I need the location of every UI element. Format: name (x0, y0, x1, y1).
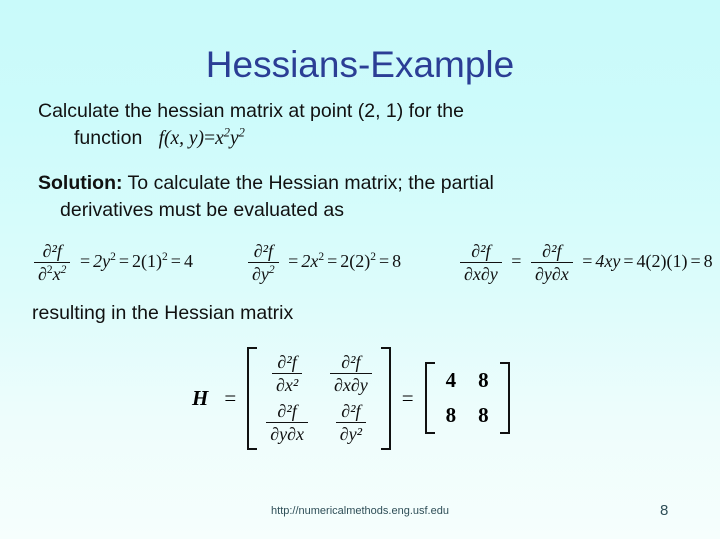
problem-line-1: Calculate the hessian matrix at point (2… (38, 100, 464, 122)
page-number: 8 (660, 502, 690, 519)
fraction-numerator: ∂²f (330, 352, 372, 374)
eq3-step1: 4xy (595, 251, 620, 271)
eq1-step1: 2y (93, 251, 110, 271)
page-title: Hessians-Example (0, 44, 720, 86)
matrix-numeric: 4 8 8 8 (423, 358, 512, 438)
fraction-numerator: ∂²f (266, 401, 308, 423)
problem-line-2: function f(x, y)=x2y2 (38, 125, 638, 152)
resulting-text: resulting in the Hessian matrix (32, 300, 452, 327)
eq3-step2: 4(2)(1) (637, 251, 688, 271)
problem-statement: Calculate the hessian matrix at point (2… (38, 98, 638, 152)
fraction-denominator: ∂x∂y (330, 374, 372, 395)
equals-sign-1: = (215, 386, 245, 411)
eq2-step1: 2x (301, 251, 318, 271)
eq3-result: 8 (704, 251, 713, 271)
equals-sign-2: = (393, 386, 423, 411)
fraction-denominator: ∂2x2 (34, 263, 70, 284)
function-label: function (74, 127, 142, 149)
matrix-value: 8 (446, 403, 457, 428)
solution-line-2: derivatives must be evaluated as (38, 197, 658, 224)
fraction-numerator: ∂²f (248, 241, 279, 263)
fraction-denominator: ∂x² (272, 374, 302, 395)
matrix-value: 8 (478, 368, 489, 393)
equation-d2f-dx2: ∂²f ∂2x2 =2y2=2(1)2=4 (32, 241, 193, 284)
eq1-result: 4 (184, 251, 193, 271)
matrix-cell: ∂²f ∂x² (272, 352, 302, 395)
solution-paragraph: Solution: To calculate the Hessian matri… (38, 170, 658, 224)
hessian-symbol: H (192, 386, 215, 411)
fraction-numerator: ∂²f (34, 241, 70, 263)
fraction-denominator: ∂y2 (248, 263, 279, 284)
fraction-numerator: ∂²f (272, 352, 302, 374)
matrix-value: 8 (478, 403, 489, 428)
fraction-numerator: ∂²f (460, 241, 502, 263)
fraction-denominator: ∂y∂x (531, 263, 573, 284)
fraction-numerator: ∂²f (336, 401, 366, 423)
matrix-cell: ∂²f ∂x∂y (330, 352, 372, 395)
fraction-d2f-dx2: ∂²f ∂2x2 (34, 241, 70, 284)
equation-d2f-dy2: ∂²f ∂y2 =2x2=2(2)2=8 (246, 241, 401, 284)
eq2-result: 8 (392, 251, 401, 271)
fraction-d2f-dxdy: ∂²f ∂x∂y (460, 241, 502, 284)
fraction-denominator: ∂x∂y (460, 263, 502, 284)
matrix-symbolic: ∂²f ∂x² ∂²f ∂x∂y ∂²f ∂y∂x ∂²f ∂y² (245, 343, 393, 454)
equation-mixed-partials: ∂²f ∂x∂y = ∂²f ∂y∂x =4xy=4(2)(1)=8 (458, 241, 713, 284)
function-formula: f(x, y)=x2y2 (159, 128, 245, 149)
solution-line-1: To calculate the Hessian matrix; the par… (122, 172, 493, 194)
matrix-cell: ∂²f ∂y∂x (266, 401, 308, 444)
fraction-denominator: ∂y² (336, 423, 366, 444)
solution-label: Solution: (38, 172, 122, 194)
hessian-matrix-equation: H = ∂²f ∂x² ∂²f ∂x∂y ∂²f ∂y∂x ∂²f ∂y² (192, 343, 512, 454)
fraction-d2f-dydx: ∂²f ∂y∂x (531, 241, 573, 284)
eq2-step2: 2(2) (340, 251, 370, 271)
footer-url: http://numericalmethods.eng.usf.edu (0, 505, 720, 517)
fraction-d2f-dy2: ∂²f ∂y2 (248, 241, 279, 284)
matrix-cell: ∂²f ∂y² (336, 401, 366, 444)
eq1-step2: 2(1) (132, 251, 162, 271)
fraction-numerator: ∂²f (531, 241, 573, 263)
matrix-symbolic-grid: ∂²f ∂x² ∂²f ∂x∂y ∂²f ∂y∂x ∂²f ∂y² (257, 347, 381, 450)
slide-canvas: Hessians-Example Calculate the hessian m… (0, 0, 720, 539)
matrix-numeric-grid: 4 8 8 8 (435, 362, 500, 434)
matrix-value: 4 (446, 368, 457, 393)
fraction-denominator: ∂y∂x (266, 423, 308, 444)
